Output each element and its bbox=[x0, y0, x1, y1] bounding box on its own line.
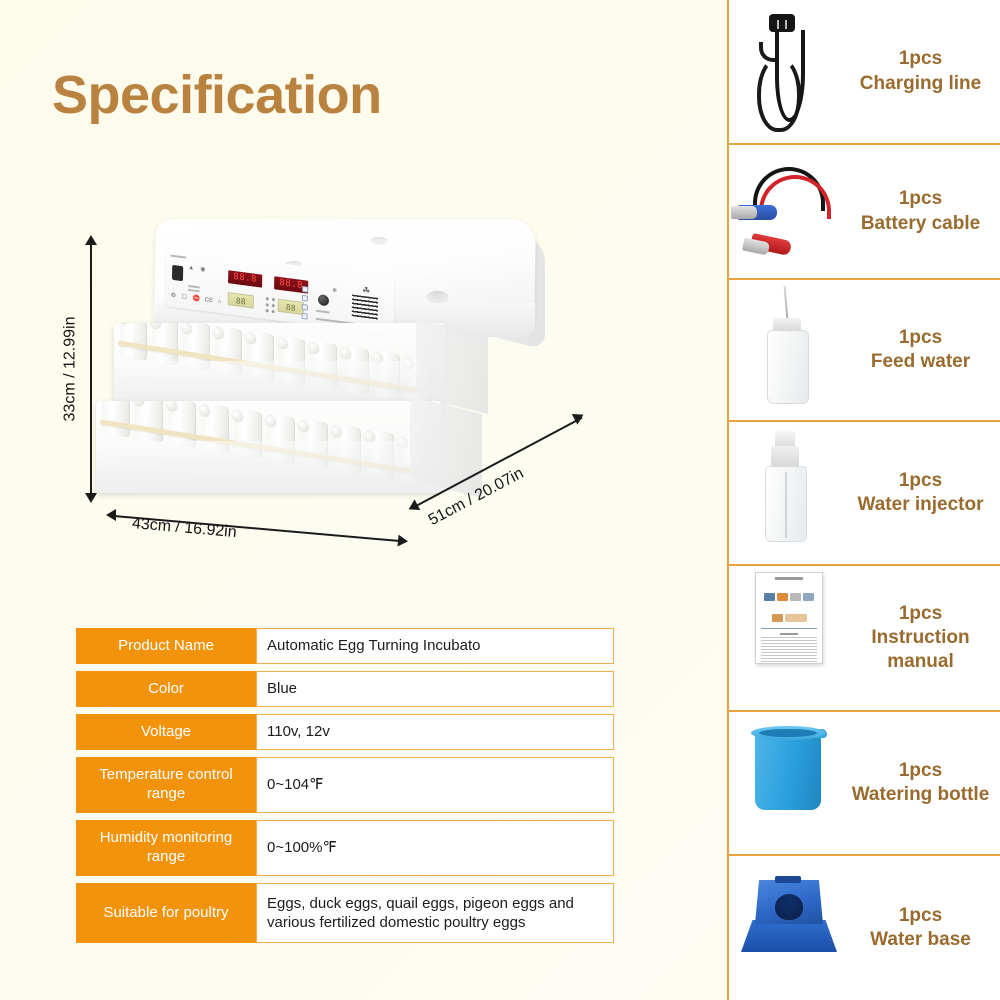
height-arrow-top bbox=[85, 235, 97, 245]
panel-button[interactable] bbox=[302, 313, 308, 320]
power-cord-icon bbox=[729, 0, 847, 143]
panel-print bbox=[188, 285, 200, 288]
home-mark-icon: ⌂ bbox=[218, 299, 222, 305]
accessory-label: 1pcs Battery cable bbox=[847, 187, 1000, 236]
specification-table: Product Name Automatic Egg Turning Incub… bbox=[76, 628, 614, 950]
lid-vent-dot bbox=[370, 237, 387, 245]
cup-body bbox=[755, 732, 821, 810]
rohs-icon: CE bbox=[205, 297, 213, 304]
accessory-label: 1pcs Charging line bbox=[847, 47, 1000, 96]
spec-value-suitable-poultry: Eggs, duck eggs, quail eggs, pigeon eggs… bbox=[256, 883, 614, 943]
manual-text-line bbox=[761, 640, 817, 641]
indicator-dot bbox=[272, 298, 275, 301]
temp-setting-display bbox=[228, 292, 254, 308]
base-notch bbox=[775, 876, 801, 883]
speaker-grille bbox=[352, 294, 378, 319]
egg-roller bbox=[152, 323, 179, 366]
accessory-name: Water base bbox=[870, 929, 971, 950]
manual-text-line bbox=[761, 643, 817, 644]
cord-segment bbox=[775, 30, 805, 122]
table-row: Voltage 110v, 12v bbox=[76, 714, 614, 750]
spec-key-color: Color bbox=[76, 671, 256, 707]
manual-text-line bbox=[761, 646, 817, 647]
control-knob[interactable] bbox=[318, 294, 329, 306]
width-arrow-right bbox=[397, 535, 408, 548]
manual-text-line bbox=[761, 628, 817, 629]
plug-prong bbox=[777, 20, 779, 29]
accessory-label: 1pcs Water injector bbox=[847, 469, 1000, 518]
manual-text-line bbox=[761, 649, 817, 650]
egg-roller bbox=[135, 401, 163, 443]
panel-print bbox=[188, 289, 200, 292]
spec-value-temperature-range: 0~104℉ bbox=[256, 757, 614, 813]
accessory-item-battery-cable: 1pcs Battery cable bbox=[729, 145, 1000, 280]
manual-thumb bbox=[785, 614, 807, 622]
table-row: Color Blue bbox=[76, 671, 614, 707]
leaf-icon: ☘ bbox=[362, 286, 370, 296]
egg-tray-lower bbox=[96, 401, 442, 493]
spec-value-product-name: Automatic Egg Turning Incubato bbox=[256, 628, 614, 664]
manual-text-line bbox=[761, 655, 817, 656]
panel-print bbox=[170, 255, 186, 259]
warning-triangle-icon: ▲ bbox=[188, 265, 194, 272]
accessory-name: Watering bottle bbox=[852, 784, 990, 805]
bottle-body bbox=[767, 330, 809, 404]
manual-text-line bbox=[761, 661, 817, 662]
accessory-qty: 1pcs bbox=[847, 187, 994, 211]
spray-nozzle bbox=[775, 430, 795, 446]
height-arrow-bottom bbox=[85, 493, 97, 503]
accessory-item-feed-water: 1pcs Feed water bbox=[729, 280, 1000, 422]
height-dimension-label: 33cm / 12.99in bbox=[61, 317, 79, 422]
manual-page-icon bbox=[729, 566, 847, 710]
manual-text-line bbox=[761, 652, 817, 653]
certification-icon: ◉ bbox=[200, 267, 205, 274]
table-row: Product Name Automatic Egg Turning Incub… bbox=[76, 628, 614, 664]
accessory-qty: 1pcs bbox=[847, 47, 994, 71]
ce-mark-icon: ☐ bbox=[182, 294, 187, 301]
accessory-name: Water injector bbox=[858, 494, 984, 515]
manual-text-line bbox=[761, 637, 817, 638]
spec-key-temperature-range: Temperature control range bbox=[76, 757, 256, 813]
manual-thumb bbox=[764, 593, 775, 601]
weee-icon: ⛔ bbox=[193, 296, 201, 303]
manual-heading-bar bbox=[775, 577, 803, 580]
incubator-side-wall-lower bbox=[410, 396, 482, 498]
manual-text-line bbox=[761, 658, 817, 659]
blue-cup-icon bbox=[729, 712, 847, 854]
height-dimension-line bbox=[90, 243, 92, 495]
indicator-dot bbox=[266, 297, 269, 300]
egg-tray-upper bbox=[114, 323, 446, 409]
manual-thumb bbox=[803, 593, 814, 601]
cup-interior bbox=[759, 729, 817, 737]
spec-key-product-name: Product Name bbox=[76, 628, 256, 664]
accessory-label: 1pcs Watering bottle bbox=[847, 759, 1000, 808]
spec-value-voltage: 110v, 12v bbox=[256, 714, 614, 750]
accessory-item-charging-line: 1pcs Charging line bbox=[729, 0, 1000, 145]
accessory-label: 1pcs Instruction manual bbox=[847, 602, 1000, 675]
page-title: Specification bbox=[52, 64, 382, 126]
manual-thumbnails bbox=[756, 593, 822, 601]
manual-section-bar bbox=[780, 633, 798, 635]
spec-key-humidity-range: Humidity monitoring range bbox=[76, 820, 256, 876]
accessory-item-water-injector: 1pcs Water injector bbox=[729, 422, 1000, 566]
manual-page bbox=[755, 572, 823, 664]
accessories-sidebar: 1pcs Charging line 1pcs Battery cable 1p… bbox=[727, 0, 1000, 1000]
table-row: Temperature control range 0~104℉ bbox=[76, 757, 614, 813]
width-dimension-label: 43cm / 16.92in bbox=[131, 515, 237, 542]
panel-button[interactable] bbox=[302, 286, 308, 293]
manual-thumb bbox=[777, 593, 788, 601]
base-center-hole bbox=[775, 894, 803, 920]
accessory-name: Feed water bbox=[871, 351, 970, 372]
needle-tip bbox=[784, 286, 789, 320]
accessory-name: Charging line bbox=[860, 73, 981, 94]
battery-clip-cable-icon bbox=[729, 145, 847, 278]
accessory-label: 1pcs Water base bbox=[847, 904, 1000, 953]
spray-collar bbox=[771, 446, 799, 468]
accessory-qty: 1pcs bbox=[847, 602, 994, 626]
accessory-qty: 1pcs bbox=[847, 759, 994, 783]
accessory-name: Instruction manual bbox=[871, 627, 969, 672]
width-arrow-left bbox=[106, 509, 116, 521]
product-illustration: ▲ ◉ ♻ ☐ ⛔ CE ⌂ ❄ ☘ bbox=[80, 205, 640, 595]
plug-prong bbox=[785, 20, 787, 29]
indicator-dot bbox=[266, 309, 269, 312]
fan-icon: ❄ bbox=[332, 288, 337, 295]
spec-value-color: Blue bbox=[256, 671, 614, 707]
blue-base-icon bbox=[729, 856, 847, 1000]
accessory-item-watering-bottle: 1pcs Watering bottle bbox=[729, 712, 1000, 856]
accessory-qty: 1pcs bbox=[847, 904, 994, 928]
spray-bottle-icon bbox=[729, 422, 847, 564]
indicator-dot bbox=[272, 310, 275, 313]
accessory-label: 1pcs Feed water bbox=[847, 326, 1000, 375]
temperature-display bbox=[228, 270, 262, 287]
accessory-qty: 1pcs bbox=[847, 469, 994, 493]
needle-bottle-icon bbox=[729, 280, 847, 420]
depth-arrow-near bbox=[406, 499, 420, 514]
panel-button[interactable] bbox=[302, 304, 308, 311]
panel-print bbox=[316, 310, 330, 313]
indicator-dot bbox=[266, 303, 269, 306]
indicator-dot bbox=[272, 304, 275, 307]
table-row: Suitable for poultry Eggs, duck eggs, qu… bbox=[76, 883, 614, 943]
recycle-icon: ♻ bbox=[171, 293, 176, 300]
humidity-setting-display bbox=[278, 299, 304, 315]
manual-thumb bbox=[790, 593, 801, 601]
table-row: Humidity monitoring range 0~100%℉ bbox=[76, 820, 614, 876]
dip-tube bbox=[785, 472, 787, 538]
spec-key-voltage: Voltage bbox=[76, 714, 256, 750]
panel-button[interactable] bbox=[302, 295, 308, 302]
power-socket-icon bbox=[172, 265, 183, 281]
tray-front-wall bbox=[96, 441, 442, 493]
accessory-item-water-base: 1pcs Water base bbox=[729, 856, 1000, 1000]
manual-thumbnails bbox=[756, 614, 822, 622]
accessory-item-instruction-manual: 1pcs Instruction manual bbox=[729, 566, 1000, 712]
accessory-qty: 1pcs bbox=[847, 326, 994, 350]
accessory-name: Battery cable bbox=[861, 213, 980, 234]
manual-thumb bbox=[772, 614, 783, 622]
clip-jaw-metal bbox=[731, 206, 757, 219]
base-lower-skirt bbox=[741, 920, 837, 952]
spec-value-humidity-range: 0~100%℉ bbox=[256, 820, 614, 876]
spec-key-suitable-poultry: Suitable for poultry bbox=[76, 883, 256, 943]
main-content: Specification ▲ ◉ ♻ ☐ ⛔ CE ⌂ bbox=[0, 0, 727, 1000]
